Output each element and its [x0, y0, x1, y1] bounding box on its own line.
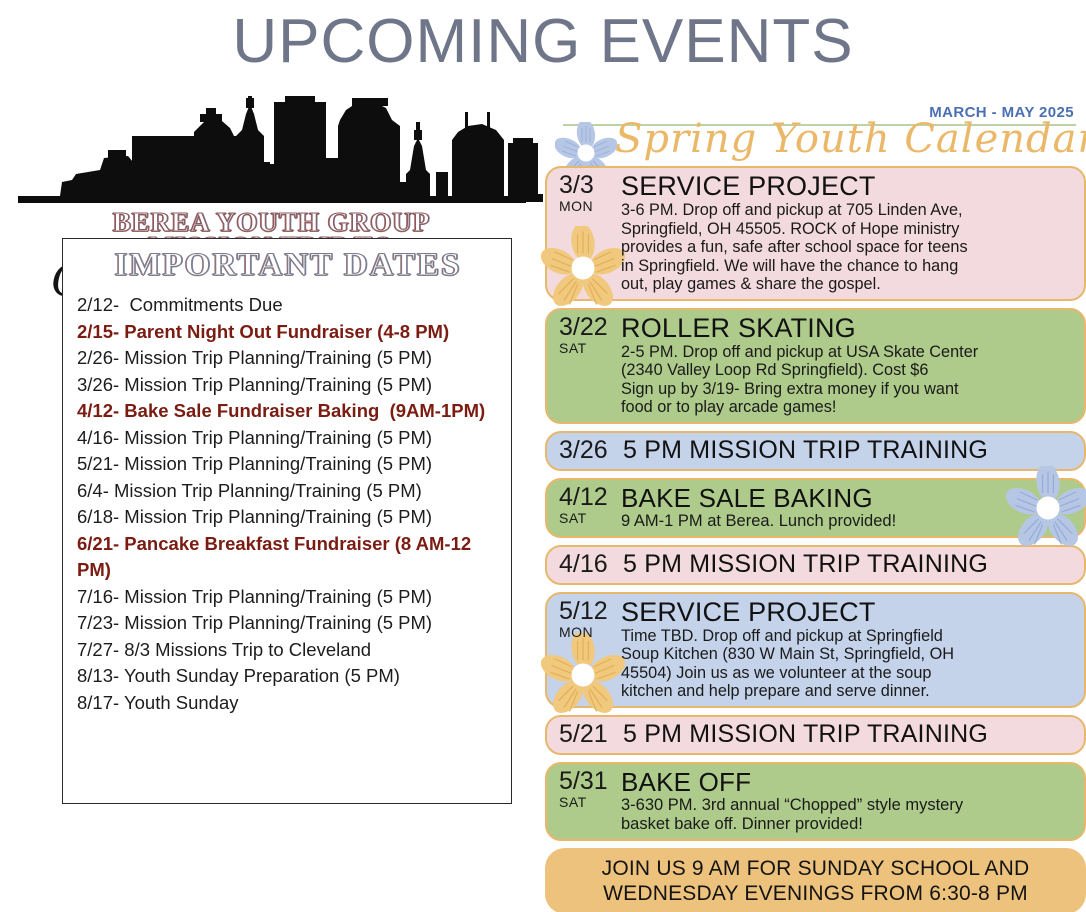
event-date: 5/21	[559, 719, 621, 749]
important-dates-list: 2/12- Commitments Due2/15- Parent Night …	[77, 292, 499, 716]
event-title: 5 PM MISSION TRIP TRAINING	[623, 549, 1074, 580]
event-card[interactable]: 4/12SATBAKE SALE BAKING9 AM-1 PM at Bere…	[545, 478, 1086, 538]
important-date-item: 5/21- Mission Trip Planning/Training (5 …	[77, 451, 499, 478]
event-title: ROLLER SKATING	[621, 314, 1074, 343]
important-date-item: 8/17- Youth Sunday	[77, 690, 499, 717]
event-card-inner: 5/12MONSERVICE PROJECTTime TBD. Drop off…	[557, 598, 1074, 701]
event-body-column: BAKE SALE BAKING9 AM-1 PM at Berea. Lunc…	[619, 484, 1074, 531]
event-card-inner: 3/22SATROLLER SKATING2-5 PM. Drop off an…	[557, 314, 1074, 417]
event-date-column: 4/12SAT	[557, 484, 619, 531]
event-body-column: BAKE OFF3-630 PM. 3rd annual “Chopped” s…	[619, 768, 1074, 834]
event-card-inner: 5/215 PM MISSION TRIP TRAINING	[557, 719, 1074, 750]
event-date-column: 4/16	[557, 549, 621, 580]
calendar-title: Spring Youth Calendar	[615, 116, 1086, 162]
important-date-item: 6/18- Mission Trip Planning/Training (5 …	[77, 504, 499, 531]
event-day-of-week: MON	[559, 625, 619, 640]
event-body-column: SERVICE PROJECT3-6 PM. Drop off and pick…	[619, 172, 1074, 294]
event-date-column: 5/21	[557, 719, 621, 750]
important-date-item: 2/15- Parent Night Out Fundraiser (4-8 P…	[77, 319, 499, 346]
important-date-item: 7/23- Mission Trip Planning/Training (5 …	[77, 610, 499, 637]
event-date-column: 5/12MON	[557, 598, 619, 701]
events-list: 3/3MONSERVICE PROJECT3-6 PM. Drop off an…	[545, 166, 1086, 841]
event-card-inner: 3/3MONSERVICE PROJECT3-6 PM. Drop off an…	[557, 172, 1074, 294]
event-title: 5 PM MISSION TRIP TRAINING	[623, 435, 1074, 466]
info-banner: JOIN US 9 AM FOR SUNDAY SCHOOL AND WEDNE…	[545, 848, 1086, 912]
event-date-column: 3/3MON	[557, 172, 619, 294]
important-date-item: 2/12- Commitments Due	[77, 292, 499, 319]
event-date: 4/16	[559, 549, 621, 579]
event-card[interactable]: 5/12MONSERVICE PROJECTTime TBD. Drop off…	[545, 592, 1086, 708]
event-date: 3/3	[559, 172, 619, 199]
event-body-column: 5 PM MISSION TRIP TRAINING	[621, 719, 1074, 750]
important-dates-box: IMPORTANT DATES 2/12- Commitments Due2/1…	[62, 238, 512, 804]
event-description: 3-6 PM. Drop off and pickup at 705 Linde…	[621, 201, 1074, 294]
event-card[interactable]: 3/22SATROLLER SKATING2-5 PM. Drop off an…	[545, 308, 1086, 424]
page-title: UPCOMING EVENTS	[0, 6, 1086, 77]
important-date-item: 6/4- Mission Trip Planning/Training (5 P…	[77, 478, 499, 505]
event-body-column: 5 PM MISSION TRIP TRAINING	[621, 549, 1074, 580]
event-body-column: ROLLER SKATING2-5 PM. Drop off and picku…	[619, 314, 1074, 417]
event-day-of-week: SAT	[559, 341, 619, 356]
poster-root: UPCOMING EVENTS	[0, 0, 1086, 912]
event-title: 5 PM MISSION TRIP TRAINING	[623, 719, 1074, 750]
event-description: 3-630 PM. 3rd annual “Chopped” style mys…	[621, 796, 1074, 834]
event-day-of-week: SAT	[559, 511, 619, 526]
event-date-column: 5/31SAT	[557, 768, 619, 834]
event-card[interactable]: 4/165 PM MISSION TRIP TRAINING	[545, 545, 1086, 585]
event-date: 3/26	[559, 435, 621, 465]
event-card-inner: 4/12SATBAKE SALE BAKING9 AM-1 PM at Bere…	[557, 484, 1074, 531]
event-day-of-week: MON	[559, 199, 619, 214]
important-date-item: 8/13- Youth Sunday Preparation (5 PM)	[77, 663, 499, 690]
event-card[interactable]: 5/31SATBAKE OFF3-630 PM. 3rd annual “Cho…	[545, 762, 1086, 841]
event-title: BAKE SALE BAKING	[621, 484, 1074, 512]
important-date-item: 7/16- Mission Trip Planning/Training (5 …	[77, 584, 499, 611]
event-card[interactable]: 3/265 PM MISSION TRIP TRAINING	[545, 431, 1086, 471]
important-date-item: 3/26- Mission Trip Planning/Training (5 …	[77, 372, 499, 399]
important-date-item: 6/21- Pancake Breakfast Fundraiser (8 AM…	[77, 531, 499, 584]
right-column: MARCH - MAY 2025	[545, 104, 1086, 912]
event-card-inner: 4/165 PM MISSION TRIP TRAINING	[557, 549, 1074, 580]
event-card-inner: 3/265 PM MISSION TRIP TRAINING	[557, 435, 1074, 466]
important-dates-heading: IMPORTANT DATES	[77, 247, 499, 284]
event-title: SERVICE PROJECT	[621, 598, 1074, 627]
event-date: 5/31	[559, 768, 619, 795]
event-card-inner: 5/31SATBAKE OFF3-630 PM. 3rd annual “Cho…	[557, 768, 1074, 834]
event-date: 5/12	[559, 598, 619, 625]
important-date-item: 7/27- 8/3 Missions Trip to Cleveland	[77, 637, 499, 664]
info-banners: JOIN US 9 AM FOR SUNDAY SCHOOL AND WEDNE…	[545, 848, 1086, 912]
event-card[interactable]: 3/3MONSERVICE PROJECT3-6 PM. Drop off an…	[545, 166, 1086, 301]
event-date: 3/22	[559, 314, 619, 341]
calendar-header: MARCH - MAY 2025	[545, 104, 1086, 166]
important-date-item: 2/26- Mission Trip Planning/Training (5 …	[77, 345, 499, 372]
event-day-of-week: SAT	[559, 795, 619, 810]
event-card[interactable]: 5/215 PM MISSION TRIP TRAINING	[545, 715, 1086, 755]
cleveland-skyline-silhouette-icon	[0, 96, 543, 208]
event-body-column: SERVICE PROJECTTime TBD. Drop off and pi…	[619, 598, 1074, 701]
event-date-column: 3/22SAT	[557, 314, 619, 417]
event-description: 9 AM-1 PM at Berea. Lunch provided!	[621, 512, 1074, 531]
event-description: Time TBD. Drop off and pickup at Springf…	[621, 627, 1074, 701]
event-date: 4/12	[559, 484, 619, 511]
event-date-column: 3/26	[557, 435, 621, 466]
event-body-column: 5 PM MISSION TRIP TRAINING	[621, 435, 1074, 466]
important-date-item: 4/16- Mission Trip Planning/Training (5 …	[77, 425, 499, 452]
event-title: BAKE OFF	[621, 768, 1074, 796]
event-title: SERVICE PROJECT	[621, 172, 1074, 201]
important-date-item: 4/12- Bake Sale Fundraiser Baking (9AM-1…	[77, 398, 499, 425]
event-description: 2-5 PM. Drop off and pickup at USA Skate…	[621, 343, 1074, 417]
